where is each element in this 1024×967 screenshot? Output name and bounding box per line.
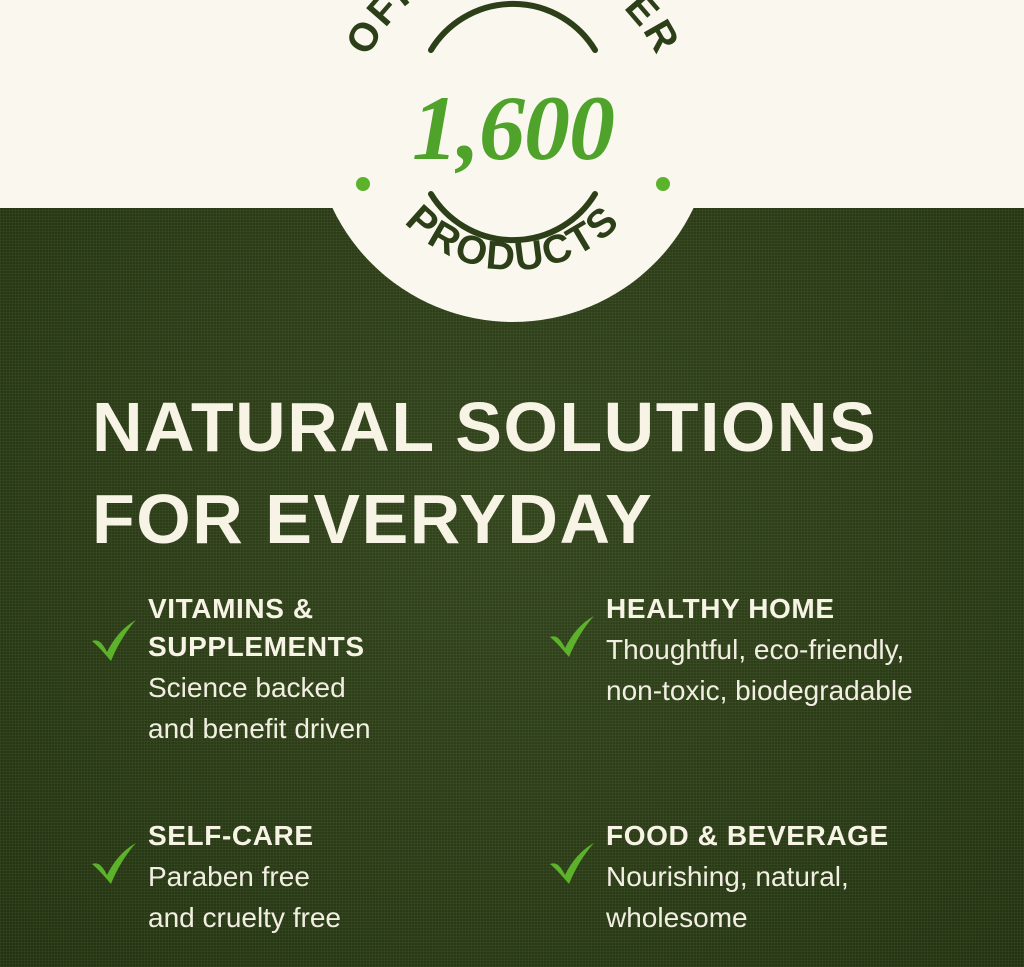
badge-arc-upper-swoosh [431, 4, 595, 50]
feature-desc-line-2: and benefit driven [148, 709, 371, 750]
product-count-badge: OFFERING OVER PRODUCTS 1,600 [313, 0, 713, 322]
feature-text: HEALTHY HOME Thoughtful, eco-friendly, n… [598, 588, 913, 711]
feature-grid: VITAMINS & SUPPLEMENTS Science backed an… [88, 588, 988, 939]
feature-food-beverage: FOOD & BEVERAGE Nourishing, natural, who… [538, 815, 988, 938]
feature-row-spacer [88, 749, 988, 815]
headline-line-1: NATURAL SOLUTIONS [92, 382, 972, 474]
feature-vitamins-supplements: VITAMINS & SUPPLEMENTS Science backed an… [88, 588, 538, 749]
feature-title: HEALTHY HOME [606, 590, 913, 628]
feature-text: FOOD & BEVERAGE Nourishing, natural, who… [598, 815, 889, 938]
feature-desc-line-1: Nourishing, natural, [606, 857, 889, 898]
feature-title: VITAMINS & SUPPLEMENTS [148, 590, 371, 666]
feature-title: FOOD & BEVERAGE [606, 817, 889, 855]
feature-text: VITAMINS & SUPPLEMENTS Science backed an… [140, 588, 371, 749]
badge-top-arc-label: OFFERING OVER [338, 0, 689, 62]
feature-desc-line-1: Thoughtful, eco-friendly, [606, 630, 913, 671]
feature-desc-line-2: non-toxic, biodegradable [606, 671, 913, 712]
check-icon [88, 614, 140, 666]
check-icon [546, 610, 598, 662]
feature-title-line-1: SELF-CARE [148, 820, 314, 851]
feature-description: Thoughtful, eco-friendly, non-toxic, bio… [606, 630, 913, 711]
badge-dot-right [656, 177, 670, 191]
feature-self-care: SELF-CARE Paraben free and cruelty free [88, 815, 538, 938]
feature-row-1: VITAMINS & SUPPLEMENTS Science backed an… [88, 588, 988, 749]
feature-description: Nourishing, natural, wholesome [606, 857, 889, 938]
feature-desc-line-1: Paraben free [148, 857, 341, 898]
feature-title-line-2: SUPPLEMENTS [148, 631, 365, 662]
feature-row-2: SELF-CARE Paraben free and cruelty free [88, 815, 988, 938]
page-title: NATURAL SOLUTIONS FOR EVERYDAY [92, 382, 972, 565]
feature-title: SELF-CARE [148, 817, 341, 855]
feature-desc-line-2: wholesome [606, 898, 889, 939]
badge-product-count: 1,600 [313, 82, 713, 174]
feature-description: Paraben free and cruelty free [148, 857, 341, 938]
feature-title-line-1: FOOD & BEVERAGE [606, 820, 889, 851]
check-icon [88, 837, 140, 889]
feature-desc-line-1: Science backed [148, 668, 371, 709]
feature-healthy-home: HEALTHY HOME Thoughtful, eco-friendly, n… [538, 588, 988, 749]
feature-title-line-1: VITAMINS & [148, 593, 314, 624]
feature-description: Science backed and benefit driven [148, 668, 371, 749]
badge-dot-left [356, 177, 370, 191]
headline-line-2: FOR EVERYDAY [92, 474, 972, 566]
feature-text: SELF-CARE Paraben free and cruelty free [140, 815, 341, 938]
check-icon [546, 837, 598, 889]
promo-banner: OFFERING OVER PRODUCTS 1,600 NATURAL SOL… [0, 0, 1024, 967]
feature-title-line-1: HEALTHY HOME [606, 593, 835, 624]
feature-desc-line-2: and cruelty free [148, 898, 341, 939]
